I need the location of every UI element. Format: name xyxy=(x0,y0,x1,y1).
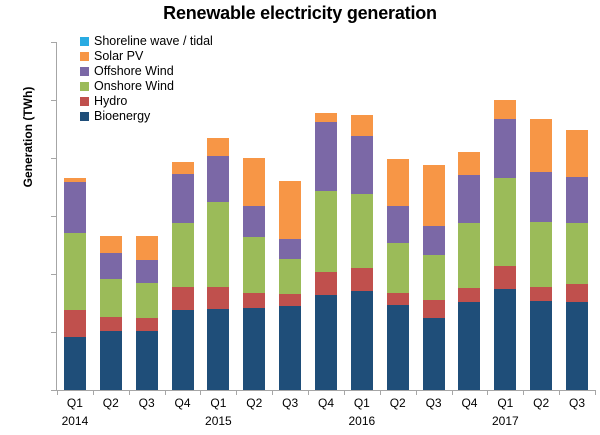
bar-segment-offshore-wind xyxy=(458,175,480,223)
x-axis-line xyxy=(56,390,595,391)
legend-item[interactable]: Hydro xyxy=(80,94,213,109)
bar-segment-hydro xyxy=(136,318,158,331)
bar-segment-bioenergy xyxy=(243,308,265,390)
bar-segment-bioenergy xyxy=(100,331,122,390)
bar-segment-offshore-wind xyxy=(530,172,552,222)
bar-segment-offshore-wind xyxy=(243,206,265,237)
legend-label: Shoreline wave / tidal xyxy=(94,35,213,48)
x-label-quarter: Q1 xyxy=(485,396,525,410)
bar-segment-solar-pv xyxy=(387,159,409,205)
bar-q2-2015[interactable] xyxy=(243,158,265,390)
bar-segment-bioenergy xyxy=(279,306,301,390)
renewable-generation-chart: Renewable electricity generation Generat… xyxy=(0,0,600,435)
y-tick-mark xyxy=(51,100,56,101)
bar-segment-offshore-wind xyxy=(136,260,158,283)
x-label-quarter: Q1 xyxy=(198,396,238,410)
x-tick-mark xyxy=(272,390,273,395)
x-label-year: 2016 xyxy=(332,414,392,428)
x-tick-mark xyxy=(308,390,309,395)
bar-segment-solar-pv xyxy=(566,130,588,176)
y-tick-mark xyxy=(51,42,56,43)
bar-segment-onshore-wind xyxy=(458,223,480,288)
bar-segment-offshore-wind xyxy=(172,174,194,223)
x-label-quarter: Q2 xyxy=(378,396,418,410)
bar-segment-bioenergy xyxy=(207,309,229,390)
bar-segment-solar-pv xyxy=(423,165,445,226)
bar-segment-bioenergy xyxy=(494,289,516,390)
y-tick-mark xyxy=(51,216,56,217)
bar-segment-offshore-wind xyxy=(423,226,445,255)
bar-segment-onshore-wind xyxy=(423,255,445,299)
bar-segment-offshore-wind xyxy=(351,136,373,194)
x-tick-mark xyxy=(165,390,166,395)
x-tick-mark xyxy=(57,390,58,395)
y-tick-mark xyxy=(51,332,56,333)
x-label-quarter: Q4 xyxy=(449,396,489,410)
bar-q2-2016[interactable] xyxy=(387,159,409,390)
bar-q1-2017[interactable] xyxy=(494,100,516,390)
x-label-quarter: Q3 xyxy=(270,396,310,410)
legend-swatch-icon xyxy=(80,82,89,91)
bar-segment-solar-pv xyxy=(530,119,552,172)
x-tick-mark xyxy=(200,390,201,395)
x-label-year: 2015 xyxy=(188,414,248,428)
legend-item[interactable]: Offshore Wind xyxy=(80,64,213,79)
bar-segment-hydro xyxy=(530,287,552,301)
bar-segment-bioenergy xyxy=(172,310,194,390)
bar-segment-onshore-wind xyxy=(315,191,337,272)
bar-segment-hydro xyxy=(64,310,86,337)
x-label-quarter: Q3 xyxy=(414,396,454,410)
bar-segment-solar-pv xyxy=(136,236,158,260)
x-label-year: 2017 xyxy=(475,414,535,428)
x-label-quarter: Q4 xyxy=(306,396,346,410)
bar-segment-hydro xyxy=(387,293,409,306)
x-tick-mark xyxy=(236,390,237,395)
bar-segment-offshore-wind xyxy=(279,239,301,259)
bar-segment-onshore-wind xyxy=(136,283,158,318)
x-tick-mark xyxy=(595,390,596,395)
bar-q1-2016[interactable] xyxy=(351,115,373,390)
bar-q3-2014[interactable] xyxy=(136,236,158,390)
bar-segment-solar-pv xyxy=(207,138,229,155)
x-tick-mark xyxy=(416,390,417,395)
bar-segment-bioenergy xyxy=(387,305,409,390)
legend-swatch-icon xyxy=(80,52,89,61)
bar-segment-bioenergy xyxy=(530,301,552,390)
bar-segment-hydro xyxy=(566,284,588,301)
legend-swatch-icon xyxy=(80,37,89,46)
bar-q4-2016[interactable] xyxy=(458,152,480,390)
bar-segment-hydro xyxy=(243,293,265,308)
legend-item[interactable]: Solar PV xyxy=(80,49,213,64)
y-tick-mark xyxy=(51,274,56,275)
legend-label: Hydro xyxy=(94,95,127,108)
x-tick-mark xyxy=(344,390,345,395)
x-label-quarter: Q1 xyxy=(342,396,382,410)
bar-q4-2014[interactable] xyxy=(172,162,194,390)
legend-swatch-icon xyxy=(80,97,89,106)
bar-segment-hydro xyxy=(423,300,445,319)
chart-legend: Shoreline wave / tidalSolar PVOffshore W… xyxy=(80,34,213,124)
x-label-quarter: Q3 xyxy=(127,396,167,410)
x-tick-mark xyxy=(93,390,94,395)
x-tick-mark xyxy=(380,390,381,395)
bar-segment-offshore-wind xyxy=(566,177,588,223)
legend-label: Solar PV xyxy=(94,50,143,63)
bar-segment-offshore-wind xyxy=(387,206,409,243)
bar-segment-hydro xyxy=(351,268,373,291)
legend-label: Offshore Wind xyxy=(94,65,174,78)
x-tick-mark xyxy=(452,390,453,395)
bar-segment-solar-pv xyxy=(100,236,122,253)
x-label-year: 2014 xyxy=(45,414,105,428)
bar-segment-offshore-wind xyxy=(100,253,122,279)
legend-label: Bioenergy xyxy=(94,110,150,123)
bar-segment-solar-pv xyxy=(315,113,337,122)
x-label-quarter: Q4 xyxy=(163,396,203,410)
x-tick-mark xyxy=(523,390,524,395)
bar-q3-2015[interactable] xyxy=(279,181,301,390)
bar-segment-solar-pv xyxy=(172,162,194,175)
bar-segment-offshore-wind xyxy=(207,156,229,202)
x-tick-mark xyxy=(487,390,488,395)
x-tick-mark xyxy=(129,390,130,395)
chart-title: Renewable electricity generation xyxy=(0,3,600,24)
bar-segment-onshore-wind xyxy=(243,237,265,293)
bar-segment-onshore-wind xyxy=(387,243,409,293)
bar-q3-2017[interactable] xyxy=(566,130,588,390)
bar-segment-bioenergy xyxy=(566,302,588,390)
bar-segment-onshore-wind xyxy=(100,279,122,317)
bar-q3-2016[interactable] xyxy=(423,165,445,390)
legend-swatch-icon xyxy=(80,67,89,76)
bar-segment-offshore-wind xyxy=(494,119,516,178)
bar-segment-solar-pv xyxy=(494,100,516,119)
x-label-quarter: Q2 xyxy=(91,396,131,410)
x-tick-mark xyxy=(559,390,560,395)
bar-segment-solar-pv xyxy=(279,181,301,239)
bar-segment-bioenergy xyxy=(64,337,86,390)
legend-item[interactable]: Shoreline wave / tidal xyxy=(80,34,213,49)
bar-segment-hydro xyxy=(207,287,229,309)
x-label-quarter: Q2 xyxy=(521,396,561,410)
bar-segment-hydro xyxy=(458,288,480,302)
bar-segment-onshore-wind xyxy=(351,194,373,268)
legend-swatch-icon xyxy=(80,112,89,121)
bar-segment-bioenergy xyxy=(315,295,337,390)
x-label-quarter: Q3 xyxy=(557,396,597,410)
bar-segment-hydro xyxy=(315,272,337,295)
bar-segment-onshore-wind xyxy=(530,222,552,287)
bar-segment-hydro xyxy=(100,317,122,331)
bar-segment-solar-pv xyxy=(351,115,373,136)
bar-segment-bioenergy xyxy=(458,302,480,390)
bar-segment-bioenergy xyxy=(351,291,373,390)
y-axis-title: Generation (TWh) xyxy=(21,57,35,217)
bar-q4-2015[interactable] xyxy=(315,113,337,390)
bar-segment-offshore-wind xyxy=(315,122,337,190)
bar-q1-2015[interactable] xyxy=(207,138,229,390)
bar-segment-onshore-wind xyxy=(207,202,229,287)
bar-segment-hydro xyxy=(494,266,516,289)
bar-q1-2014[interactable] xyxy=(64,178,86,390)
y-tick-mark xyxy=(51,158,56,159)
legend-label: Onshore Wind xyxy=(94,80,174,93)
bar-q2-2014[interactable] xyxy=(100,236,122,390)
bar-segment-offshore-wind xyxy=(64,182,86,233)
bar-segment-hydro xyxy=(172,287,194,310)
bar-segment-onshore-wind xyxy=(279,259,301,294)
y-tick-mark xyxy=(51,390,56,391)
x-label-quarter: Q1 xyxy=(55,396,95,410)
legend-item[interactable]: Onshore Wind xyxy=(80,79,213,94)
bar-segment-bioenergy xyxy=(136,331,158,390)
bar-q2-2017[interactable] xyxy=(530,119,552,390)
bar-segment-bioenergy xyxy=(423,318,445,390)
bar-segment-onshore-wind xyxy=(64,233,86,310)
bar-segment-hydro xyxy=(279,294,301,307)
bar-segment-onshore-wind xyxy=(494,178,516,266)
bar-segment-onshore-wind xyxy=(172,223,194,287)
bar-segment-solar-pv xyxy=(243,158,265,206)
bar-segment-onshore-wind xyxy=(566,223,588,284)
bar-segment-solar-pv xyxy=(458,152,480,175)
x-label-quarter: Q2 xyxy=(234,396,274,410)
legend-item[interactable]: Bioenergy xyxy=(80,109,213,124)
